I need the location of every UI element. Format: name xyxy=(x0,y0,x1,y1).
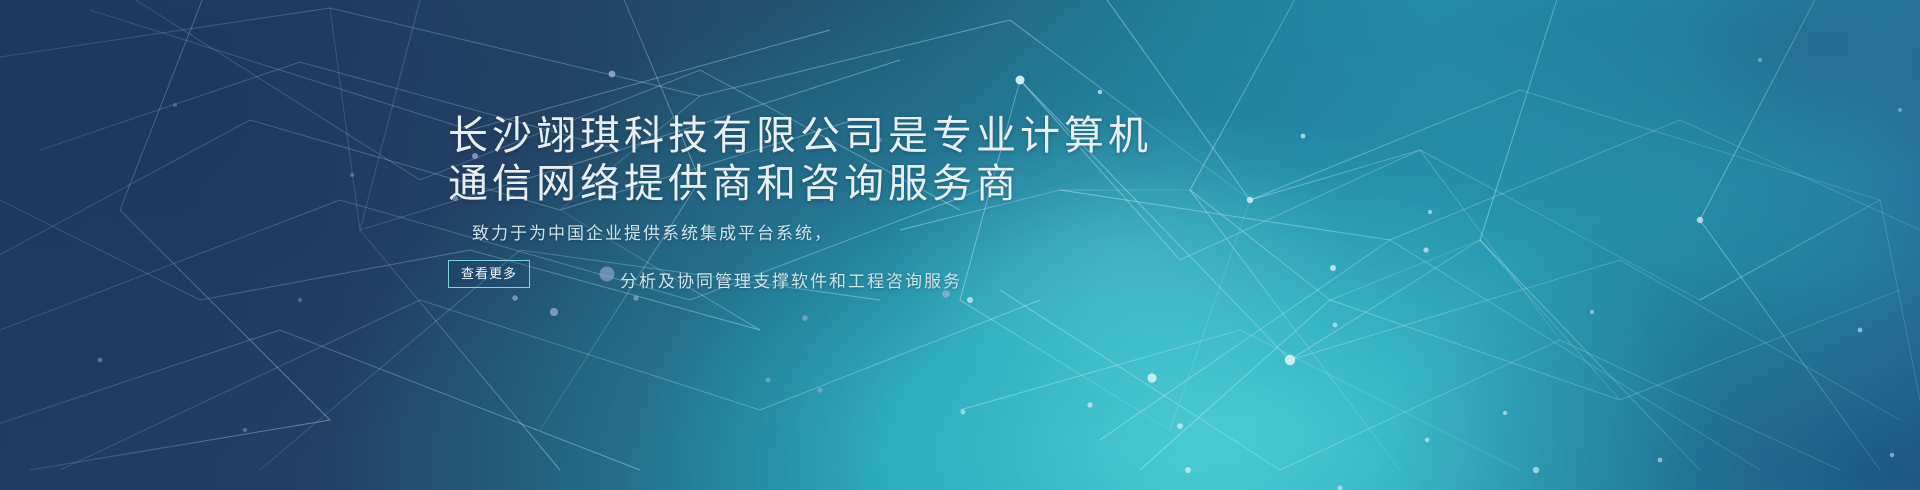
view-more-button[interactable]: 查看更多 xyxy=(448,260,530,288)
hero-banner: 长沙翊琪科技有限公司是专业计算机 通信网络提供商和咨询服务商 致力于为中国企业提… xyxy=(0,0,1920,490)
subheading-line-2: 分析及协同管理支撑软件和工程咨询服务 xyxy=(448,270,1548,294)
cta-row: 查看更多 xyxy=(448,260,530,288)
headline-line-1: 长沙翊琪科技有限公司是专业计算机 xyxy=(448,114,1152,158)
banner-copy: 长沙翊琪科技有限公司是专业计算机 通信网络提供商和咨询服务商 致力于为中国企业提… xyxy=(448,112,1548,294)
headline: 长沙翊琪科技有限公司是专业计算机 通信网络提供商和咨询服务商 xyxy=(448,112,1548,208)
subheading-line-1: 致力于为中国企业提供系统集成平台系统， xyxy=(448,222,1548,246)
headline-line-2: 通信网络提供商和咨询服务商 xyxy=(448,160,1548,208)
